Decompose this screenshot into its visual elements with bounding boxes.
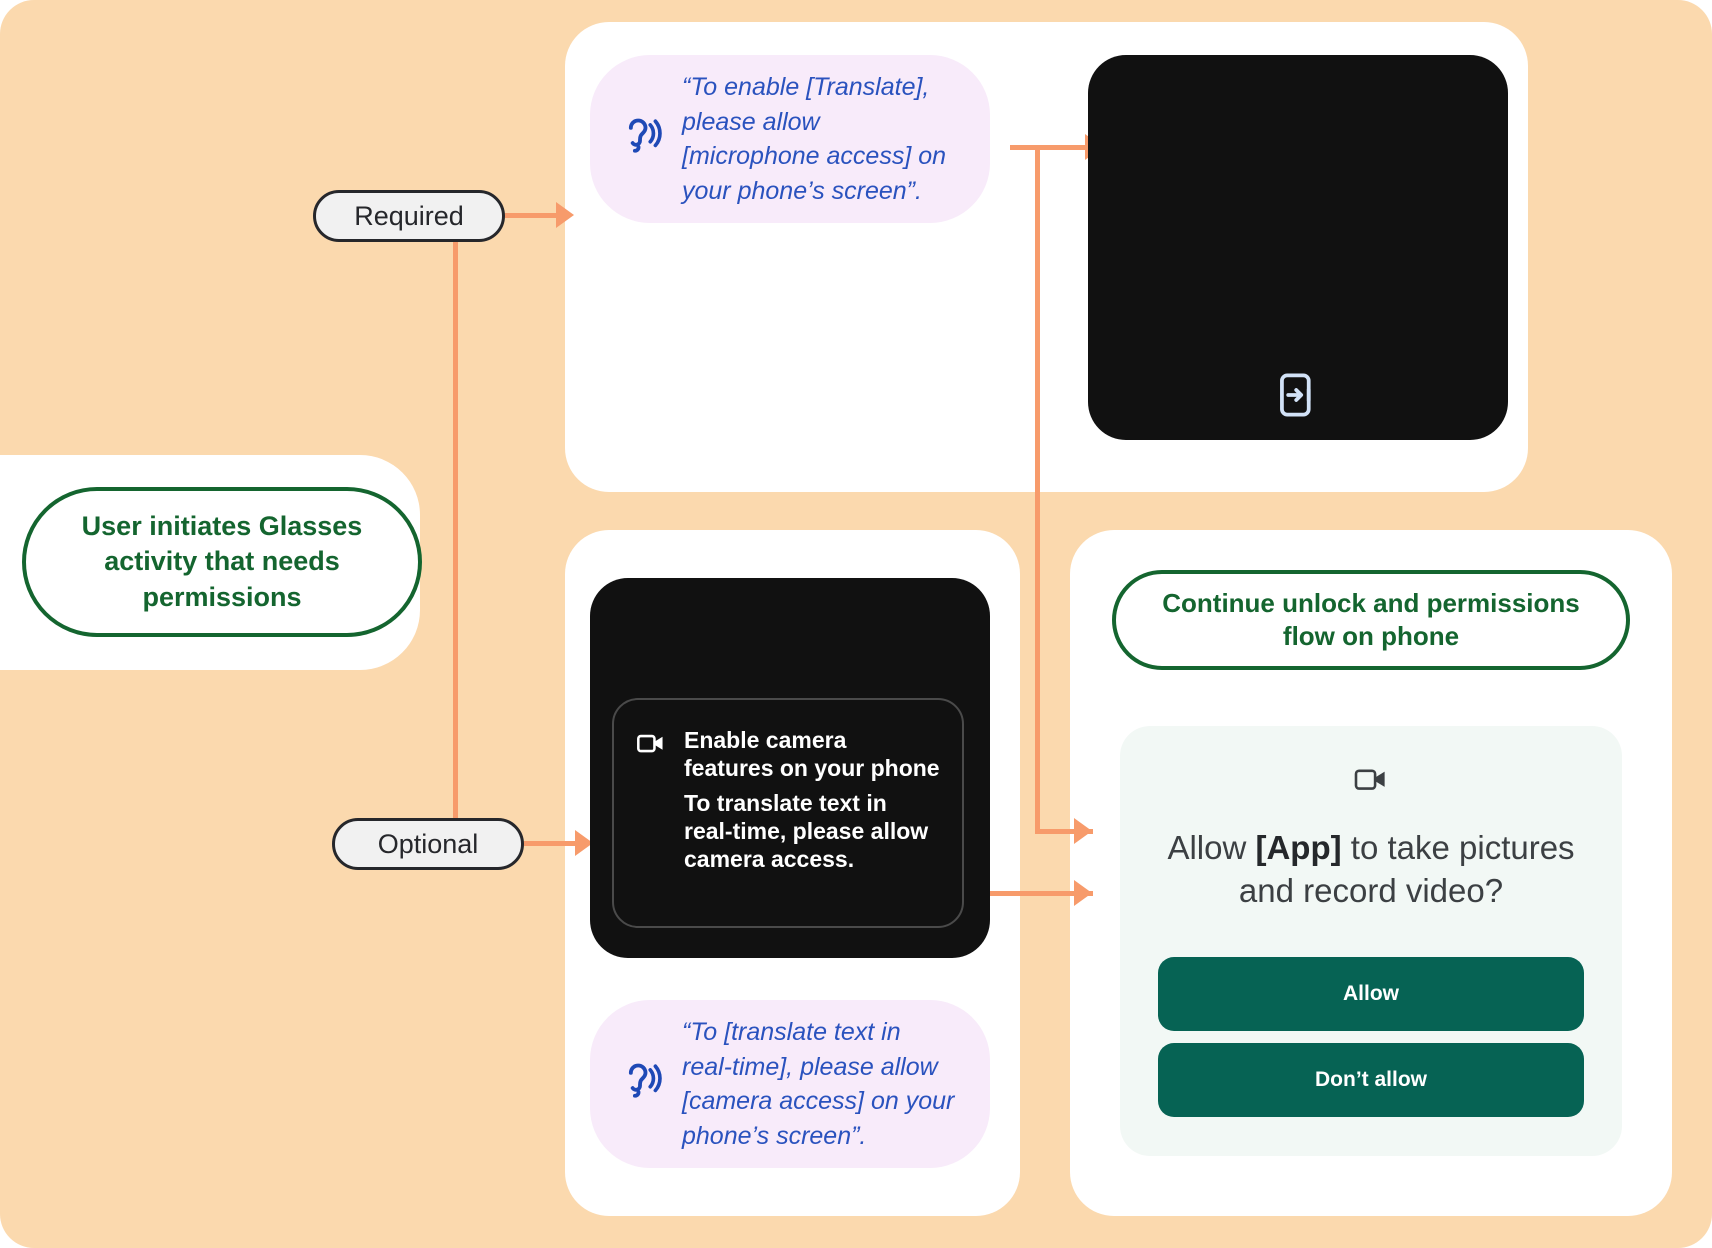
- glasses-notification-subtitle: To translate text in real-time, please a…: [684, 789, 940, 873]
- speech-bubble-camera-text: “To [translate text in real-time], pleas…: [682, 1015, 956, 1153]
- branch-pill-optional-label: Optional: [378, 829, 479, 860]
- connector-optional-to-glasses: [524, 841, 579, 846]
- video-camera-icon: [636, 726, 666, 926]
- glasses-notification-card: Enable camera features on your phone To …: [612, 698, 964, 928]
- glasses-display-top: [1088, 55, 1508, 440]
- ear-listen-icon: [618, 115, 662, 164]
- branch-pill-optional[interactable]: Optional: [332, 818, 524, 870]
- arrowhead-required: [556, 202, 574, 228]
- dont-allow-button[interactable]: Don’t allow: [1158, 1043, 1584, 1117]
- ear-listen-icon: [618, 1060, 662, 1109]
- connector-drop-vertical: [1035, 148, 1040, 834]
- arrowhead-dialog: [1074, 880, 1092, 906]
- phone-enter-icon: [1276, 370, 1320, 425]
- video-camera-icon: [1353, 764, 1389, 799]
- branch-pill-required-label: Required: [354, 201, 464, 232]
- permission-dialog-title: Allow [App] to take pictures and record …: [1158, 827, 1584, 913]
- glasses-display-bottom: Enable camera features on your phone To …: [590, 578, 990, 958]
- allow-button[interactable]: Allow: [1158, 957, 1584, 1031]
- branch-pill-required[interactable]: Required: [313, 190, 505, 242]
- connector-trunk-vertical: [453, 216, 458, 844]
- connector-required-to-bubble: [505, 213, 560, 218]
- speech-bubble-camera: “To [translate text in real-time], pleas…: [590, 1000, 990, 1168]
- diagram-canvas: User initiates Glasses activity that nee…: [0, 0, 1712, 1248]
- speech-bubble-microphone: “To enable [Translate], please allow [mi…: [590, 55, 990, 223]
- glasses-notification-text: Enable camera features on your phone To …: [684, 726, 940, 926]
- permission-dialog: Allow [App] to take pictures and record …: [1120, 726, 1622, 1156]
- continue-flow-node: Continue unlock and permissions flow on …: [1112, 570, 1630, 670]
- start-node: User initiates Glasses activity that nee…: [22, 487, 422, 637]
- glasses-notification-title: Enable camera features on your phone: [684, 727, 940, 781]
- start-node-label: User initiates Glasses activity that nee…: [52, 509, 392, 614]
- permission-title-prefix: Allow: [1167, 829, 1255, 866]
- arrowhead-drop: [1074, 818, 1092, 844]
- speech-bubble-microphone-text: “To enable [Translate], please allow [mi…: [682, 70, 956, 208]
- permission-title-app: [App]: [1255, 829, 1341, 866]
- continue-flow-label: Continue unlock and permissions flow on …: [1144, 587, 1598, 653]
